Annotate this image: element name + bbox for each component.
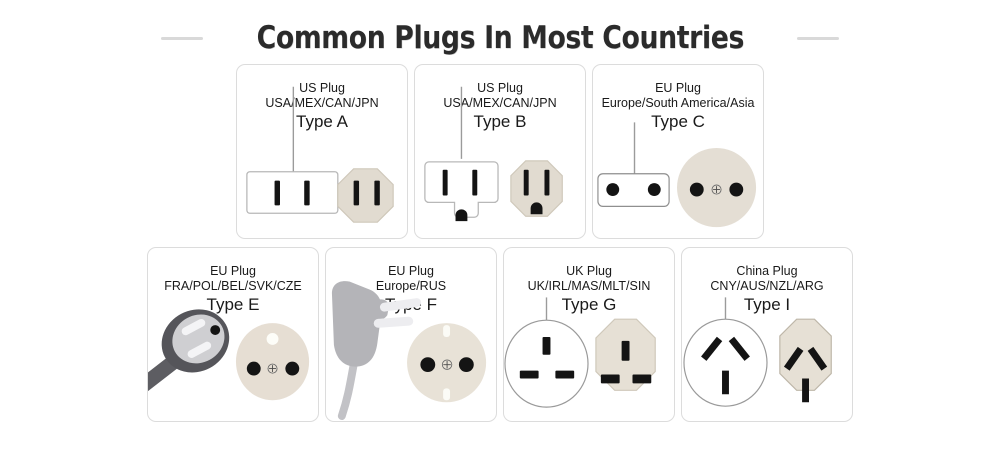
socket-earth-clip-top	[443, 325, 450, 337]
plug-earth-hole	[210, 325, 220, 335]
type-g-illustration	[504, 248, 674, 421]
plug-row-2: EU Plug FRA/POL/BEL/SVK/CZE Type E	[0, 247, 1000, 422]
socket-hole-right	[285, 362, 299, 376]
plug-blade-left	[275, 181, 280, 206]
plug-card-type-f[interactable]: EU Plug Europe/RUS Type F	[325, 247, 497, 422]
plug-pin-earth	[543, 337, 551, 355]
socket-slot-right	[374, 181, 379, 206]
plug-body	[425, 162, 498, 217]
socket-hole-left	[247, 362, 261, 376]
plug-card-type-e[interactable]: EU Plug FRA/POL/BEL/SVK/CZE Type E	[147, 247, 319, 422]
plug-card-type-c[interactable]: EU Plug Europe/South America/Asia Type C	[592, 64, 764, 239]
socket-slot-right	[544, 170, 549, 196]
socket-hole-right	[459, 357, 474, 372]
plug-pin-left	[606, 183, 619, 196]
socket-slot-earth	[622, 341, 630, 361]
socket-slot-left	[601, 375, 620, 384]
socket-slot-left	[524, 170, 529, 196]
title-rule-left	[161, 37, 203, 40]
socket-slot-left	[354, 181, 359, 206]
plug-row-1: US Plug USA/MEX/CAN/JPN Type A US Plug U…	[0, 64, 1000, 239]
page-title: Common Plugs In Most Countries	[256, 20, 743, 56]
plug-cable	[342, 365, 354, 416]
plug-blade-right	[472, 170, 477, 196]
plug-body	[505, 320, 588, 407]
socket-hole-left	[420, 357, 435, 372]
title-rule-right	[797, 37, 839, 40]
socket-hole-right	[729, 183, 743, 197]
plug-pin-left	[520, 371, 539, 379]
socket-slot-right	[632, 375, 651, 384]
type-i-illustration	[682, 248, 852, 421]
type-b-illustration	[415, 65, 585, 238]
plug-card-type-g[interactable]: UK Plug UK/IRL/MAS/MLT/SIN Type G	[503, 247, 675, 422]
type-a-illustration	[237, 65, 407, 238]
socket-ground-hole	[531, 202, 543, 214]
socket-earth-pin	[267, 333, 279, 345]
plug-pin-right	[648, 183, 661, 196]
plug-ground-pin	[456, 209, 468, 221]
page-title-bar: Common Plugs In Most Countries	[0, 0, 1000, 62]
plug-body	[247, 172, 338, 214]
plug-card-type-b[interactable]: US Plug USA/MEX/CAN/JPN Type B	[414, 64, 586, 239]
plug-pin-right	[555, 371, 574, 379]
socket-earth-clip-bottom	[443, 388, 450, 400]
socket-body	[338, 169, 393, 222]
type-c-illustration	[593, 65, 763, 238]
type-f-illustration	[326, 248, 496, 421]
plug-blade-left	[443, 170, 448, 196]
type-e-illustration	[148, 248, 318, 421]
socket-hole-left	[690, 183, 704, 197]
plug-pin-top	[379, 298, 421, 313]
plug-blade-right	[304, 181, 309, 206]
plug-card-type-a[interactable]: US Plug USA/MEX/CAN/JPN Type A	[236, 64, 408, 239]
infographic-page: Common Plugs In Most Countries US Plug U…	[0, 0, 1000, 453]
plug-card-type-i[interactable]: China Plug CNY/AUS/NZL/ARG Type I	[681, 247, 853, 422]
